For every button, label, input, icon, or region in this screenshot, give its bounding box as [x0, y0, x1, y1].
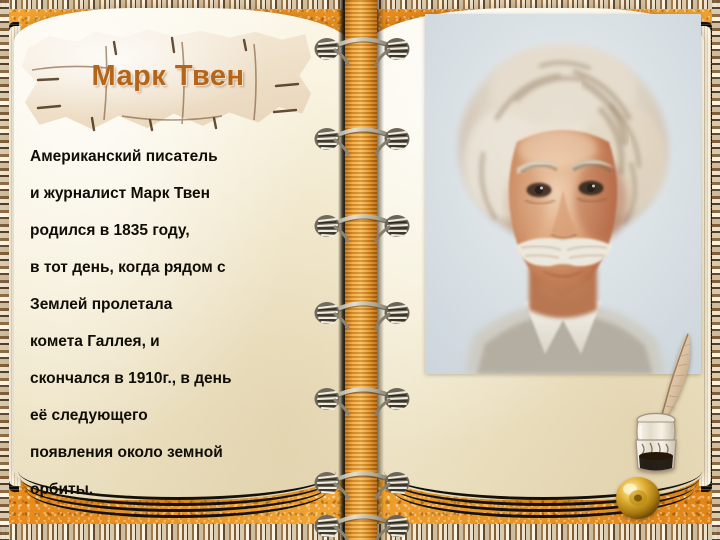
- body-line: комета Галлея, и: [30, 323, 320, 360]
- body-paragraph: Американский писательи журналист Марк Тв…: [30, 138, 320, 508]
- body-line: её следующего: [30, 397, 320, 434]
- marbled-edge-left: [0, 0, 9, 540]
- body-line: скончался в 1910г., в день: [30, 360, 320, 397]
- body-line: появления около земной: [30, 434, 320, 471]
- inkwell-icon: [628, 410, 684, 476]
- body-line: и журналист Марк Твен: [30, 175, 320, 212]
- slide-root: Марк Твен Американский писательи журнали…: [0, 0, 720, 540]
- marbled-edge-right: [712, 0, 720, 540]
- book-spine: [345, 0, 377, 540]
- page-title: Марк Твен: [22, 60, 314, 93]
- body-line: родился в 1835 году,: [30, 212, 320, 249]
- brass-bell-icon: [612, 470, 664, 522]
- body-line: орбиты.: [30, 471, 320, 508]
- mark-twain-portrait: [425, 14, 701, 374]
- spine-shadow-right: [377, 0, 384, 540]
- body-line: Землей пролетала: [30, 286, 320, 323]
- body-line: Американский писатель: [30, 138, 320, 175]
- portrait-illustration: [425, 14, 701, 374]
- body-line: в тот день, когда рядом с: [30, 249, 320, 286]
- title-plate: Марк Твен: [22, 24, 314, 136]
